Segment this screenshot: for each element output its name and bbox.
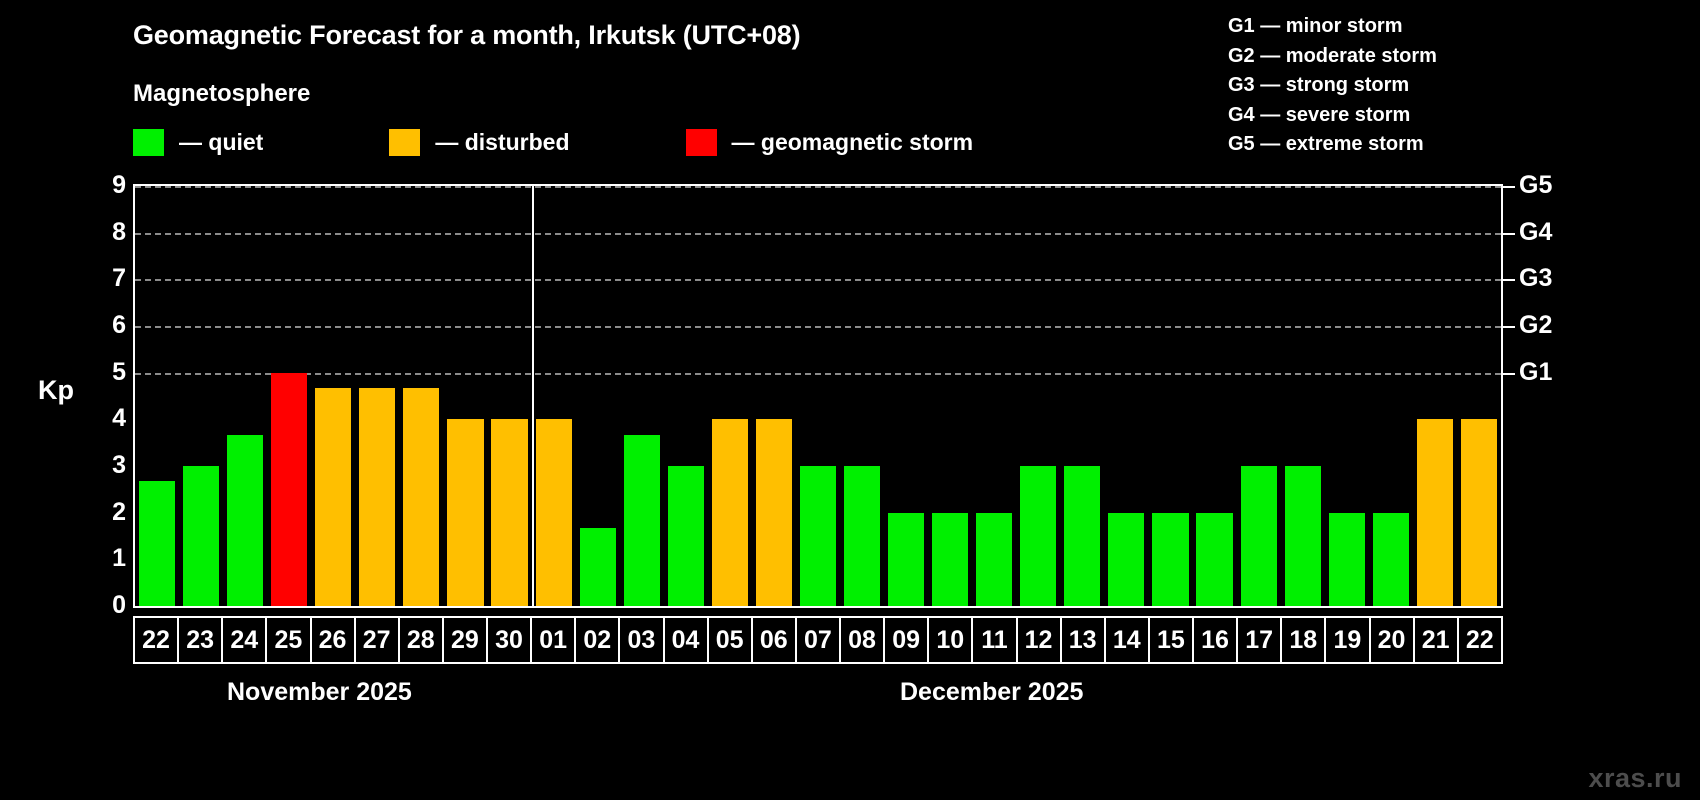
g-axis-tick-mark (1503, 186, 1515, 188)
bar-slot[interactable] (972, 186, 1016, 606)
bar[interactable] (1461, 419, 1497, 606)
bar-slot[interactable] (1193, 186, 1237, 606)
g-scale-axis: G1G2G3G4G5 (1503, 184, 1583, 608)
bar[interactable] (227, 435, 263, 606)
day-label-row: 2223242526272829300102030405060708091011… (133, 616, 1503, 664)
bar[interactable] (580, 528, 616, 606)
bar-slot[interactable] (1237, 186, 1281, 606)
bar-slot[interactable] (1281, 186, 1325, 606)
bar[interactable] (668, 466, 704, 606)
bar[interactable] (888, 513, 924, 606)
day-label-cell[interactable]: 01 (532, 618, 576, 662)
day-label-cell[interactable]: 11 (973, 618, 1017, 662)
bar-slot[interactable] (355, 186, 399, 606)
bar[interactable] (1417, 419, 1453, 606)
bar[interactable] (1108, 513, 1144, 606)
day-label-cell[interactable]: 07 (797, 618, 841, 662)
y-axis-title: Kp (38, 375, 74, 406)
day-label-cell[interactable]: 03 (620, 618, 664, 662)
bar-slot[interactable] (1325, 186, 1369, 606)
bar-slot[interactable] (488, 186, 532, 606)
month-label-november: November 2025 (227, 678, 412, 707)
gscale-legend-row: G1 — minor storm (1228, 12, 1437, 42)
gscale-legend: G1 — minor stormG2 — moderate stormG3 — … (1228, 12, 1437, 160)
day-label-cell[interactable]: 06 (753, 618, 797, 662)
bar-slot[interactable] (532, 186, 576, 606)
gscale-legend-row: G5 — extreme storm (1228, 130, 1437, 160)
chart-plot-area (133, 184, 1503, 608)
bar-slot[interactable] (1104, 186, 1148, 606)
day-label-cell[interactable]: 02 (576, 618, 620, 662)
bar[interactable] (844, 466, 880, 606)
bar[interactable] (315, 388, 351, 606)
legend-item-label: — disturbed (435, 129, 569, 156)
gscale-legend-row: G2 — moderate storm (1228, 42, 1437, 72)
bar-slot[interactable] (620, 186, 664, 606)
bar[interactable] (447, 419, 483, 606)
bar-slot[interactable] (443, 186, 487, 606)
bar[interactable] (800, 466, 836, 606)
bar[interactable] (976, 513, 1012, 606)
g-axis-tick-mark (1503, 279, 1515, 281)
bar[interactable] (403, 388, 439, 606)
day-label-cell[interactable]: 27 (356, 618, 400, 662)
day-label-cell[interactable]: 17 (1238, 618, 1282, 662)
g-axis-label: G3 (1519, 266, 1552, 291)
bar[interactable] (183, 466, 219, 606)
bar-slot[interactable] (135, 186, 179, 606)
day-label-cell[interactable]: 28 (400, 618, 444, 662)
magnetosphere-legend: — quiet— disturbed— geomagnetic storm (133, 127, 973, 157)
day-label-cell[interactable]: 26 (312, 618, 356, 662)
g-axis-tick-mark (1503, 373, 1515, 375)
bar-slot[interactable] (267, 186, 311, 606)
bar[interactable] (1020, 466, 1056, 606)
bar[interactable] (1241, 466, 1277, 606)
bar[interactable] (271, 373, 307, 606)
day-label-cell[interactable]: 12 (1018, 618, 1062, 662)
bar-series (135, 186, 1501, 606)
bar-slot[interactable] (708, 186, 752, 606)
bar-slot[interactable] (1060, 186, 1104, 606)
bar-slot[interactable] (752, 186, 796, 606)
month-divider-line (532, 186, 534, 606)
magnetosphere-label: Magnetosphere (133, 80, 310, 108)
bar-slot[interactable] (884, 186, 928, 606)
legend-item: — quiet (133, 129, 263, 156)
day-label-cell[interactable]: 29 (444, 618, 488, 662)
day-label-cell[interactable]: 04 (665, 618, 709, 662)
legend-item: — disturbed (389, 129, 569, 156)
gscale-legend-row: G3 — strong storm (1228, 71, 1437, 101)
day-label-cell[interactable]: 23 (179, 618, 223, 662)
bar[interactable] (1064, 466, 1100, 606)
bar-slot[interactable] (1457, 186, 1501, 606)
y-axis-tick-marks (80, 184, 136, 608)
legend-item-label: — quiet (179, 129, 263, 156)
bar-slot[interactable] (223, 186, 267, 606)
bar[interactable] (1285, 466, 1321, 606)
day-label-cell[interactable]: 18 (1282, 618, 1326, 662)
legend-item-label: — geomagnetic storm (732, 129, 974, 156)
day-label-cell[interactable]: 22 (1459, 618, 1501, 662)
day-label-cell[interactable]: 09 (885, 618, 929, 662)
bar-slot[interactable] (1016, 186, 1060, 606)
day-label-cell[interactable]: 25 (267, 618, 311, 662)
bar[interactable] (1373, 513, 1409, 606)
gscale-legend-row: G4 — severe storm (1228, 101, 1437, 131)
bar[interactable] (536, 419, 572, 606)
g-axis-tick-mark (1503, 326, 1515, 328)
bar[interactable] (712, 419, 748, 606)
bar-slot[interactable] (1369, 186, 1413, 606)
g-axis-tick-mark (1503, 233, 1515, 235)
bar[interactable] (756, 419, 792, 606)
bar[interactable] (932, 513, 968, 606)
bar-slot[interactable] (576, 186, 620, 606)
day-label-cell[interactable]: 19 (1326, 618, 1370, 662)
legend-color-swatch (389, 129, 420, 156)
legend-color-swatch (686, 129, 717, 156)
g-axis-label: G4 (1519, 220, 1552, 245)
bar[interactable] (1329, 513, 1365, 606)
day-label-cell[interactable]: 15 (1150, 618, 1194, 662)
bar[interactable] (624, 435, 660, 606)
bar-slot[interactable] (1148, 186, 1192, 606)
bar-slot[interactable] (179, 186, 223, 606)
bar[interactable] (359, 388, 395, 606)
legend-color-swatch (133, 129, 164, 156)
day-label-cell[interactable]: 21 (1415, 618, 1459, 662)
bar[interactable] (1196, 513, 1232, 606)
day-label-cell[interactable]: 24 (223, 618, 267, 662)
bar-slot[interactable] (399, 186, 443, 606)
day-label-cell[interactable]: 30 (488, 618, 532, 662)
bar-slot[interactable] (664, 186, 708, 606)
bar-slot[interactable] (840, 186, 884, 606)
bar[interactable] (1152, 513, 1188, 606)
bar[interactable] (491, 419, 527, 606)
legend-item: — geomagnetic storm (686, 129, 974, 156)
bar[interactable] (139, 481, 175, 606)
bar-slot[interactable] (796, 186, 840, 606)
g-axis-label: G1 (1519, 360, 1552, 385)
site-watermark: xras.ru (1588, 763, 1682, 794)
day-label-cell[interactable]: 05 (709, 618, 753, 662)
g-axis-label: G5 (1519, 173, 1552, 198)
day-label-cell[interactable]: 22 (135, 618, 179, 662)
day-label-cell[interactable]: 20 (1371, 618, 1415, 662)
bar-slot[interactable] (928, 186, 972, 606)
month-label-december: December 2025 (900, 678, 1083, 707)
day-label-cell[interactable]: 14 (1106, 618, 1150, 662)
bar-slot[interactable] (1413, 186, 1457, 606)
day-label-cell[interactable]: 08 (841, 618, 885, 662)
bar-slot[interactable] (311, 186, 355, 606)
day-label-cell[interactable]: 10 (929, 618, 973, 662)
day-label-cell[interactable]: 13 (1062, 618, 1106, 662)
page-title: Geomagnetic Forecast for a month, Irkuts… (133, 20, 800, 51)
g-axis-label: G2 (1519, 313, 1552, 338)
day-label-cell[interactable]: 16 (1194, 618, 1238, 662)
